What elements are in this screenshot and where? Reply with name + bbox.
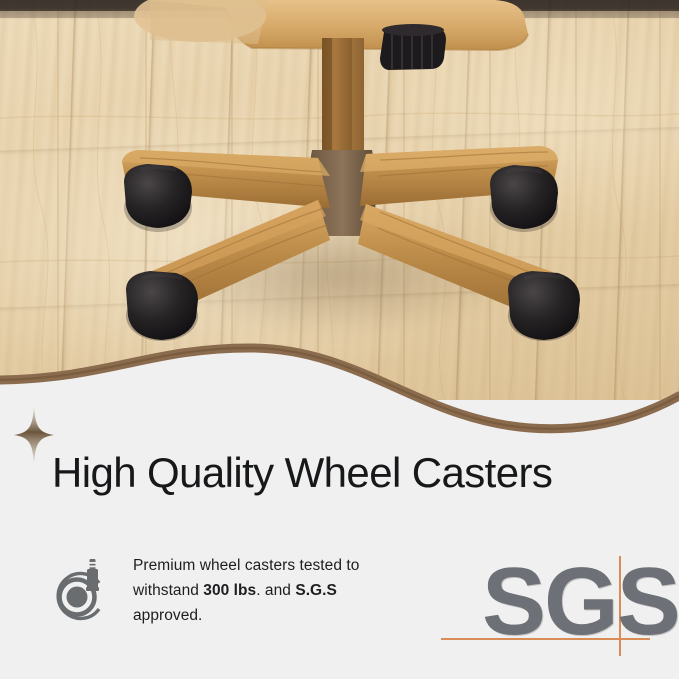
certification-name: S.G.S (295, 582, 337, 599)
sparkle-star-icon (14, 406, 54, 464)
feature-text-part-3: approved. (133, 607, 202, 624)
caster-wheel (124, 164, 192, 232)
feature-text-part-2: . and (256, 582, 295, 599)
caster-wheel-icon (50, 553, 112, 625)
feature-description: Premium wheel casters tested to withstan… (133, 553, 383, 628)
product-feature-card: High Quality Wheel Casters Premium wheel… (0, 0, 679, 679)
sgs-logo: SGS (436, 548, 666, 663)
caster-wheel (490, 165, 558, 232)
wave-divider (0, 300, 679, 460)
weight-rating: 300 lbs (203, 582, 256, 599)
sgs-logo-text: SGS (482, 554, 679, 650)
page-title: High Quality Wheel Casters (52, 450, 652, 496)
